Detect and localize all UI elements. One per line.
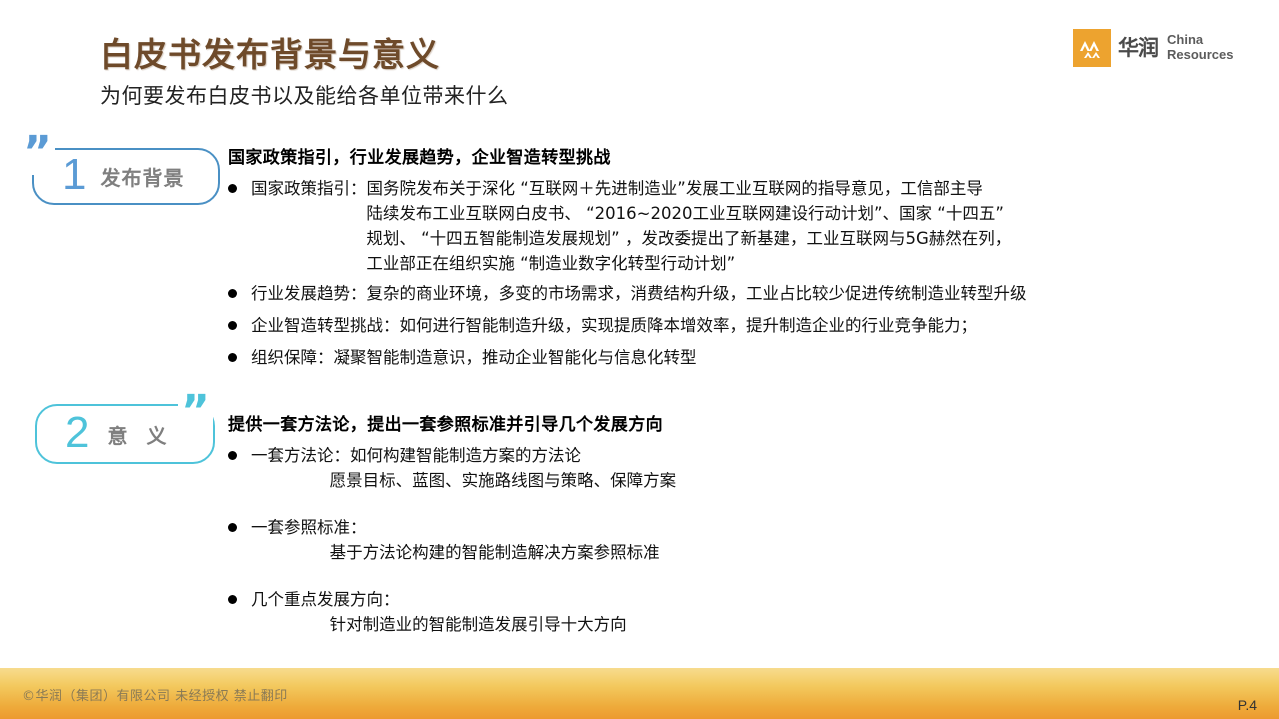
list-item: 一套方法论：如何构建智能制造方案的方法论 愿景目标、蓝图、实施路线图与策略、保障… [228, 443, 676, 493]
china-resources-logo: 华润 China Resources [1073, 29, 1233, 67]
logo-chinese-name: 华润 [1118, 38, 1158, 59]
list-item: 行业发展趋势：复杂的商业环境，多变的市场需求，消费结构升级，工业占比较少促进传统… [228, 281, 1027, 306]
page-number: P.4 [1238, 697, 1257, 713]
list-item-text: 行业发展趋势：复杂的商业环境，多变的市场需求，消费结构升级，工业占比较少促进传统… [251, 281, 1027, 306]
bullet-dot-icon [228, 353, 237, 362]
list-item-text: 国家政策指引：国务院发布关于深化 “互联网＋先进制造业”发展工业互联网的指导意见… [251, 176, 1011, 276]
logo-english-name: China Resources [1167, 33, 1233, 62]
bullet-dot-icon [228, 184, 237, 193]
page-title: 白皮书发布背景与意义 [100, 28, 440, 76]
section-2-bullet-list: 一套方法论：如何构建智能制造方案的方法论 愿景目标、蓝图、实施路线图与策略、保障… [228, 443, 676, 659]
list-item: 组织保障：凝聚智能制造意识，推动企业智能化与信息化转型 [228, 345, 1027, 370]
section-1-heading: 国家政策指引，行业发展趋势，企业智造转型挑战 [228, 143, 611, 168]
page-subtitle: 为何要发布白皮书以及能给各单位带来什么 [100, 80, 509, 110]
list-item: 国家政策指引：国务院发布关于深化 “互联网＋先进制造业”发展工业互联网的指导意见… [228, 176, 1027, 276]
slide-canvas: 华润 China Resources 白皮书发布背景与意义 为何要发布白皮书以及… [0, 0, 1279, 719]
quote-mark-icon-1: ” [20, 131, 55, 175]
bullet-dot-icon [228, 451, 237, 460]
section-badge-2-label: 意 义 [107, 420, 172, 449]
section-badge-1-label: 发布背景 [100, 162, 184, 191]
list-item: 企业智造转型挑战：如何进行智能制造升级，实现提质降本增效率，提升制造企业的行业竞… [228, 313, 1027, 338]
list-item-text: 一套参照标准： 基于方法论构建的智能制造解决方案参照标准 [251, 515, 660, 565]
logo-mountain-icon [1073, 29, 1111, 67]
logo-en-line-2: Resources [1167, 48, 1233, 63]
bullet-dot-icon [228, 595, 237, 604]
footer-copyright: ©华润（集团）有限公司 未经授权 禁止翻印 [22, 685, 288, 704]
list-item: 几个重点发展方向： 针对制造业的智能制造发展引导十大方向 [228, 587, 676, 637]
list-item-text: 一套方法论：如何构建智能制造方案的方法论 愿景目标、蓝图、实施路线图与策略、保障… [251, 443, 676, 493]
bullet-dot-icon [228, 289, 237, 298]
quote-mark-icon-2: ” [178, 390, 213, 434]
logo-en-line-1: China [1167, 33, 1233, 48]
list-item: 一套参照标准： 基于方法论构建的智能制造解决方案参照标准 [228, 515, 676, 565]
bullet-dot-icon [228, 321, 237, 330]
section-badge-2-number: 2 [65, 411, 89, 455]
section-badge-1-number: 1 [62, 153, 86, 197]
section-badge-1: 1 发布背景 [32, 148, 220, 205]
list-item-text: 企业智造转型挑战：如何进行智能制造升级，实现提质降本增效率，提升制造企业的行业竞… [251, 313, 977, 338]
slide-footer: ©华润（集团）有限公司 未经授权 禁止翻印 P.4 [0, 668, 1279, 719]
bullet-dot-icon [228, 523, 237, 532]
list-item-text: 组织保障：凝聚智能制造意识，推动企业智能化与信息化转型 [251, 345, 697, 370]
section-1-bullet-list: 国家政策指引：国务院发布关于深化 “互联网＋先进制造业”发展工业互联网的指导意见… [228, 176, 1027, 377]
section-2-heading: 提供一套方法论，提出一套参照标准并引导几个发展方向 [228, 410, 663, 435]
list-item-text: 几个重点发展方向： 针对制造业的智能制造发展引导十大方向 [251, 587, 627, 637]
